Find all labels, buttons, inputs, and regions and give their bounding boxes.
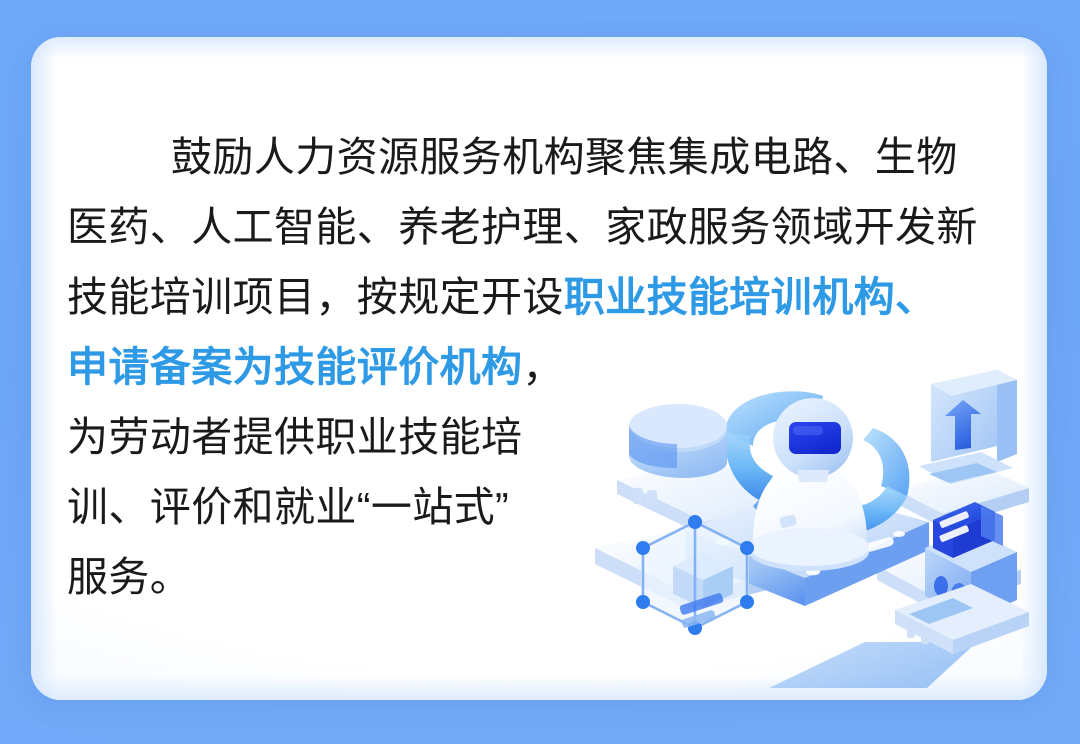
paragraph-block: 鼓励人力资源服务机构聚焦集成电路、生物 医药、人工智能、养老护理、家政服务领域开…	[67, 122, 1017, 612]
highlight-skill-assessment-institution: 申请备案为技能评价机构	[67, 344, 522, 390]
text-line-4-plain: ，	[522, 344, 563, 390]
text-line-5: 为劳动者提供职业技能培	[67, 402, 1017, 472]
text-line-3: 技能培训项目，按规定开设职业技能培训机构、	[67, 262, 1017, 332]
body-paragraph: 鼓励人力资源服务机构聚焦集成电路、生物 医药、人工智能、养老护理、家政服务领域开…	[67, 122, 1017, 612]
highlight-vocational-training-institution: 职业技能培训机构、	[564, 274, 937, 320]
text-line-4: 申请备案为技能评价机构，	[67, 332, 1017, 402]
floor-strip	[769, 642, 977, 688]
text-line-6: 训、评价和就业“一站式”	[67, 472, 1017, 542]
text-line-2: 医药、人工智能、养老护理、家政服务领域开发新	[67, 192, 1017, 262]
text-line-7: 服务。	[67, 542, 1017, 612]
text-line-3-plain: 技能培训项目，按规定开设	[67, 274, 564, 320]
screenshot-root: 鼓励人力资源服务机构聚焦集成电路、生物 医药、人工智能、养老护理、家政服务领域开…	[0, 0, 1080, 744]
text-line-1: 鼓励人力资源服务机构聚焦集成电路、生物	[67, 122, 1017, 192]
content-card: 鼓励人力资源服务机构聚焦集成电路、生物 医药、人工智能、养老护理、家政服务领域开…	[31, 37, 1047, 700]
